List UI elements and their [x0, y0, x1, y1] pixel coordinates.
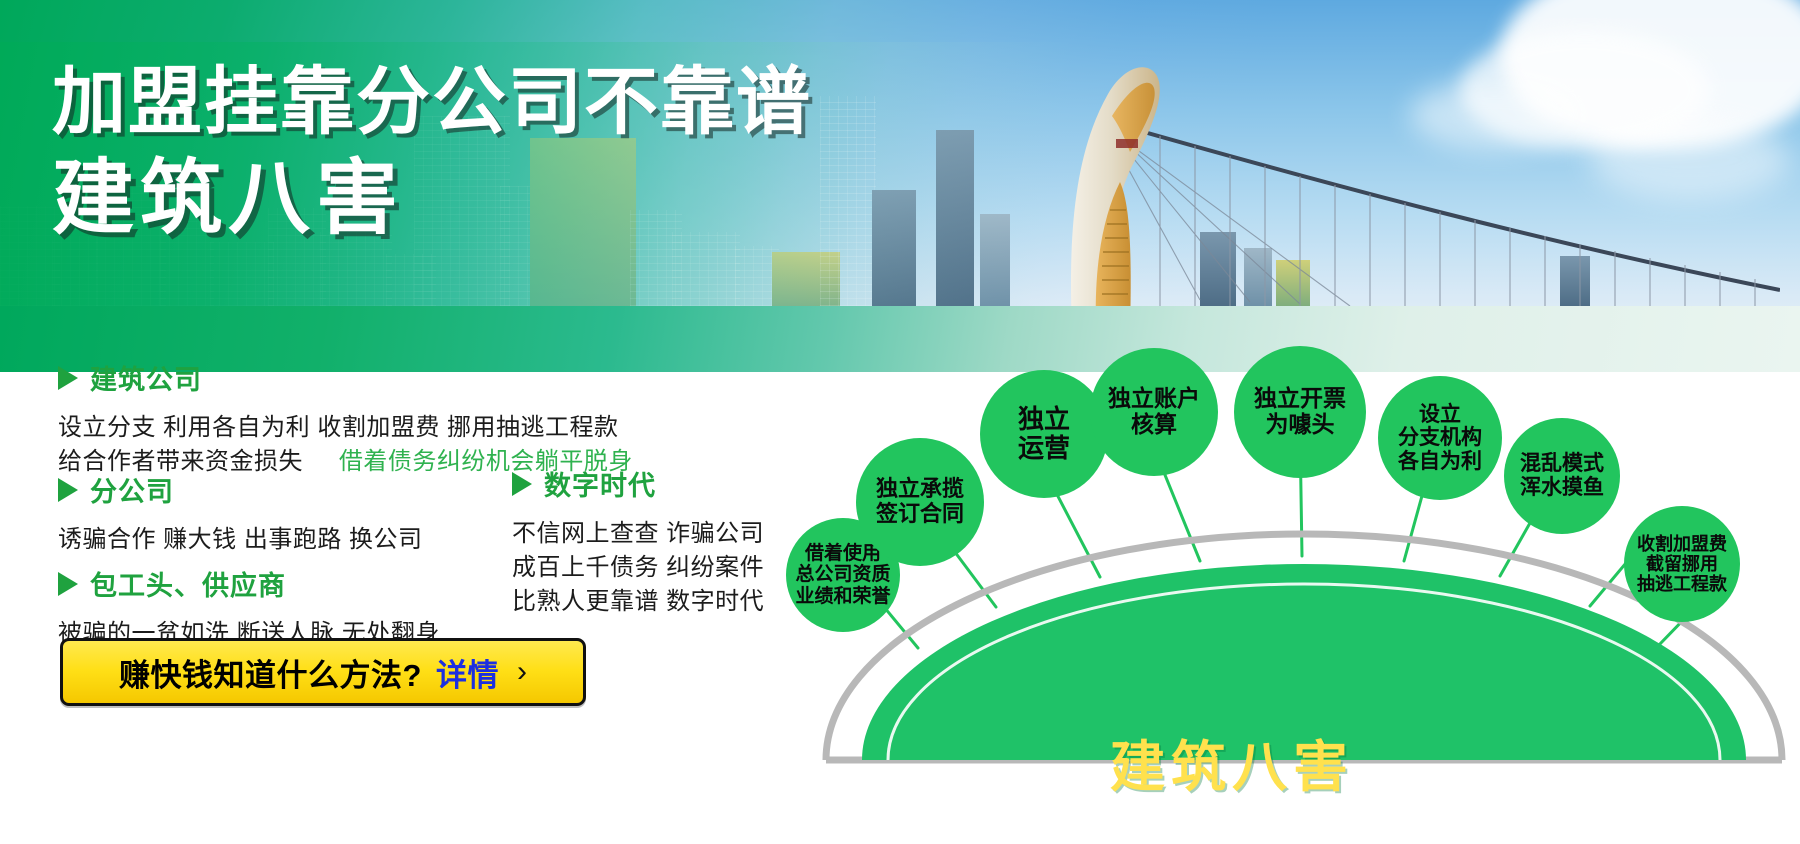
skyline-building — [980, 214, 1010, 306]
triangle-bullet-icon — [512, 472, 532, 496]
bubble-label: 借着使用 总公司资质 业绩和荣誉 — [791, 543, 894, 607]
body-line: 比熟人更靠谱 数字时代 — [512, 585, 764, 619]
section-branch-company: 分公司 诱骗合作 赚大钱 出事跑路 换公司 — [58, 470, 423, 557]
bubble-label: 混乱模式 浑水摸鱼 — [1516, 452, 1608, 499]
bubble-label: 独立开票 为噱头 — [1250, 386, 1350, 438]
body-line: 诱骗合作 赚大钱 出事跑路 换公司 — [58, 523, 423, 557]
left-content: 建筑公司 设立分支 利用各自为利 收割加盟费 挪用抽逃工程款 给合作者带来资金损… — [0, 372, 820, 844]
dome-title: 建筑八害 — [952, 722, 1512, 802]
body-line: 不信网上查查 诈骗公司 — [512, 517, 764, 551]
bubble-node[interactable]: 独立开票 为噱头 — [1234, 346, 1366, 478]
section-body: 不信网上查查 诈骗公司 成百上千债务 纠纷案件 比熟人更靠谱 数字时代 — [512, 517, 764, 619]
section-title-label: 包工头、供应商 — [90, 564, 286, 603]
bridge-illustration — [1020, 32, 1780, 332]
chevron-right-icon: › — [517, 657, 527, 687]
section-title: 分公司 — [58, 470, 423, 509]
skyline-building — [872, 190, 916, 306]
skyline-building — [210, 242, 274, 306]
skyline-building — [672, 232, 740, 306]
bubble-label: 设立 分支机构 各自为利 — [1394, 403, 1486, 474]
bubble-label: 独立承揽 签订合同 — [872, 477, 968, 526]
triangle-bullet-icon — [58, 478, 78, 502]
bubble-node[interactable]: 独立 运营 — [980, 370, 1108, 498]
bubble-label: 独立账户 核算 — [1104, 386, 1204, 438]
skyline-building — [936, 130, 974, 306]
section-construction-company: 建筑公司 设立分支 利用各自为利 收割加盟费 挪用抽逃工程款 给合作者带来资金损… — [58, 358, 633, 479]
triangle-bullet-icon — [58, 366, 78, 390]
section-title-label: 数字时代 — [544, 464, 656, 503]
headline-line-2: 建筑八害 — [52, 156, 812, 243]
cta-question-label: 赚快钱知道什么方法? — [119, 650, 422, 695]
bubble-label: 独立 运营 — [1014, 405, 1074, 463]
skyline-building — [52, 236, 98, 306]
hero-headline: 加盟挂靠分公司不靠谱 建筑八害 — [52, 62, 812, 243]
cta-detail-link[interactable]: 详情 — [436, 650, 499, 695]
section-title-label: 分公司 — [90, 470, 174, 509]
bubble-node[interactable]: 独立承揽 签订合同 — [856, 438, 984, 566]
skyline-building — [0, 206, 60, 306]
section-title-label: 建筑公司 — [90, 358, 202, 397]
skyline-building — [820, 96, 876, 306]
section-digital-era: 数字时代 不信网上查查 诈骗公司 成百上千债务 纠纷案件 比熟人更靠谱 数字时代 — [512, 464, 764, 619]
bubble-node[interactable]: 独立账户 核算 — [1090, 348, 1218, 476]
headline-line-1: 加盟挂靠分公司不靠谱 — [52, 62, 812, 142]
section-body: 诱骗合作 赚大钱 出事跑路 换公司 — [58, 523, 423, 557]
bubble-label: 收割加盟费 截留挪用 抽逃工程款 — [1633, 534, 1731, 594]
hero-banner: 加盟挂靠分公司不靠谱 建筑八害 — [0, 0, 1800, 372]
section-title: 数字时代 — [512, 464, 764, 503]
bubble-node[interactable]: 设立 分支机构 各自为利 — [1378, 376, 1502, 500]
eight-harms-diagram: 借着使用 总公司资质 业绩和荣誉 独立承揽 签订合同 独立 运营 独立账户 核算… — [800, 330, 1800, 844]
triangle-bullet-icon — [58, 572, 78, 596]
bubble-node[interactable]: 收割加盟费 截留挪用 抽逃工程款 — [1624, 506, 1740, 622]
bubble-node[interactable]: 混乱模式 浑水摸鱼 — [1504, 418, 1620, 534]
section-title: 建筑公司 — [58, 358, 633, 397]
cta-button[interactable]: 赚快钱知道什么方法? 详情 › — [60, 638, 586, 706]
poster-root: 加盟挂靠分公司不靠谱 建筑八害 建筑公司 设立分支 利用各自为利 收割加盟费 挪… — [0, 0, 1800, 844]
body-line: 成百上千债务 纠纷案件 — [512, 551, 764, 585]
section-title: 包工头、供应商 — [58, 564, 440, 603]
body-line: 设立分支 利用各自为利 收割加盟费 挪用抽逃工程款 — [58, 411, 633, 445]
